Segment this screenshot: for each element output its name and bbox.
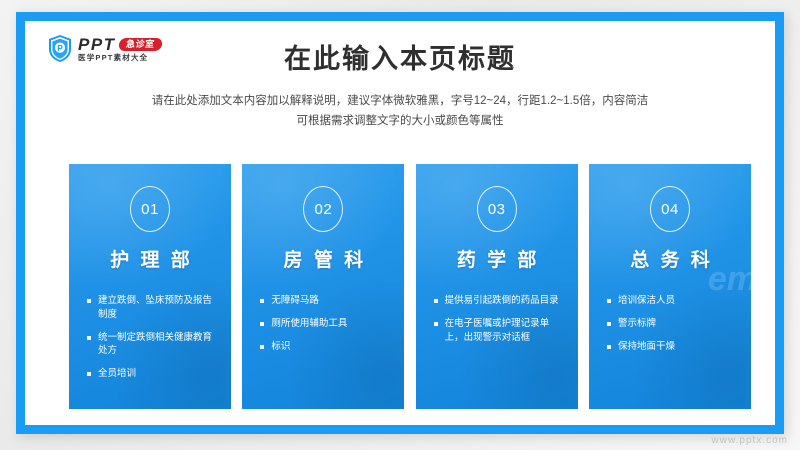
- list-item: 全员培训: [87, 367, 215, 381]
- bullet-square-icon: [87, 372, 91, 376]
- list-item: 标识: [260, 340, 388, 354]
- card-number-badge: 01: [130, 186, 170, 232]
- list-item: 提供易引起跌倒的药品目录: [434, 294, 562, 308]
- card-number-badge: 04: [650, 186, 690, 232]
- card-title: 总 务 科: [627, 245, 713, 272]
- card-title: 房 管 科: [281, 245, 367, 272]
- page-subtitle-line-2: 可根据需求调整文字的大小或颜色等属性: [25, 111, 775, 131]
- bullet-square-icon: [607, 299, 611, 303]
- card-content: 02 房 管 科 无障碍马路 厕所使用辅助工具: [242, 164, 404, 409]
- list-item-label: 保持地面干燥: [618, 340, 735, 354]
- list-item: 在电子医嘱或护理记录单上，出现警示对话框: [434, 317, 562, 345]
- card-bullet-list: 提供易引起跌倒的药品目录 在电子医嘱或护理记录单上，出现警示对话框: [428, 294, 566, 344]
- card-04[interactable]: ет 04 总 务 科 培训保洁人员 警示标牌: [589, 164, 751, 409]
- slide-canvas: P PPT 急诊室 医学PPT素材大全 在此输入本页标题 请在此处添加文本内容加…: [25, 21, 775, 425]
- list-item: 统一制定跌倒相关健康教育处方: [87, 331, 215, 359]
- card-bullet-list: 建立跌倒、坠床预防及报告制度 统一制定跌倒相关健康教育处方 全员培训: [81, 294, 219, 381]
- bullet-square-icon: [434, 322, 438, 326]
- list-item-label: 无障碍马路: [271, 294, 388, 308]
- list-item: 保持地面干燥: [607, 340, 735, 354]
- card-02[interactable]: 02 房 管 科 无障碍马路 厕所使用辅助工具: [242, 164, 404, 409]
- bullet-square-icon: [607, 345, 611, 349]
- list-item: 警示标牌: [607, 317, 735, 331]
- list-item-label: 在电子医嘱或护理记录单上，出现警示对话框: [445, 317, 562, 345]
- card-number-badge: 02: [303, 186, 343, 232]
- bullet-square-icon: [607, 322, 611, 326]
- bullet-square-icon: [260, 345, 264, 349]
- list-item-label: 建立跌倒、坠床预防及报告制度: [98, 294, 215, 322]
- bullet-square-icon: [434, 299, 438, 303]
- list-item-label: 提供易引起跌倒的药品目录: [445, 294, 562, 308]
- list-item: 建立跌倒、坠床预防及报告制度: [87, 294, 215, 322]
- page-subtitle-line-1: 请在此处添加文本内容加以解释说明，建议字体微软雅黑，字号12~24，行距1.2~…: [25, 91, 775, 111]
- page-watermark: www.pptx.com: [712, 435, 788, 446]
- card-bullet-list: 无障碍马路 厕所使用辅助工具 标识: [254, 294, 392, 353]
- card-title: 护 理 部: [107, 245, 193, 272]
- card-content: 04 总 务 科 培训保洁人员 警示标牌: [589, 164, 751, 409]
- card-01[interactable]: 01 护 理 部 建立跌倒、坠床预防及报告制度 统一制定跌倒相关健康教育处方: [69, 164, 231, 409]
- bullet-square-icon: [87, 299, 91, 303]
- slide-page: P PPT 急诊室 医学PPT素材大全 在此输入本页标题 请在此处添加文本内容加…: [0, 0, 800, 450]
- list-item: 厕所使用辅助工具: [260, 317, 388, 331]
- list-item-label: 全员培训: [98, 367, 215, 381]
- page-title: 在此输入本页标题: [25, 45, 775, 75]
- list-item-label: 警示标牌: [618, 317, 735, 331]
- card-03[interactable]: 03 药 学 部 提供易引起跌倒的药品目录 在电子医嘱或护理记录单上，出现警示对…: [416, 164, 578, 409]
- list-item: 无障碍马路: [260, 294, 388, 308]
- card-content: 01 护 理 部 建立跌倒、坠床预防及报告制度 统一制定跌倒相关健康教育处方: [69, 164, 231, 409]
- department-cards: 01 护 理 部 建立跌倒、坠床预防及报告制度 统一制定跌倒相关健康教育处方: [69, 164, 751, 409]
- bullet-square-icon: [87, 336, 91, 340]
- card-bullet-list: 培训保洁人员 警示标牌 保持地面干燥: [601, 294, 739, 353]
- list-item: 培训保洁人员: [607, 294, 735, 308]
- slide-frame-border: P PPT 急诊室 医学PPT素材大全 在此输入本页标题 请在此处添加文本内容加…: [16, 12, 784, 434]
- bullet-square-icon: [260, 322, 264, 326]
- bullet-square-icon: [260, 299, 264, 303]
- card-number-badge: 03: [477, 186, 517, 232]
- list-item-label: 统一制定跌倒相关健康教育处方: [98, 331, 215, 359]
- list-item-label: 厕所使用辅助工具: [271, 317, 388, 331]
- list-item-label: 培训保洁人员: [618, 294, 735, 308]
- list-item-label: 标识: [271, 340, 388, 354]
- card-title: 药 学 部: [454, 245, 540, 272]
- card-content: 03 药 学 部 提供易引起跌倒的药品目录 在电子医嘱或护理记录单上，出现警示对…: [416, 164, 578, 409]
- page-subtitle: 请在此处添加文本内容加以解释说明，建议字体微软雅黑，字号12~24，行距1.2~…: [25, 91, 775, 131]
